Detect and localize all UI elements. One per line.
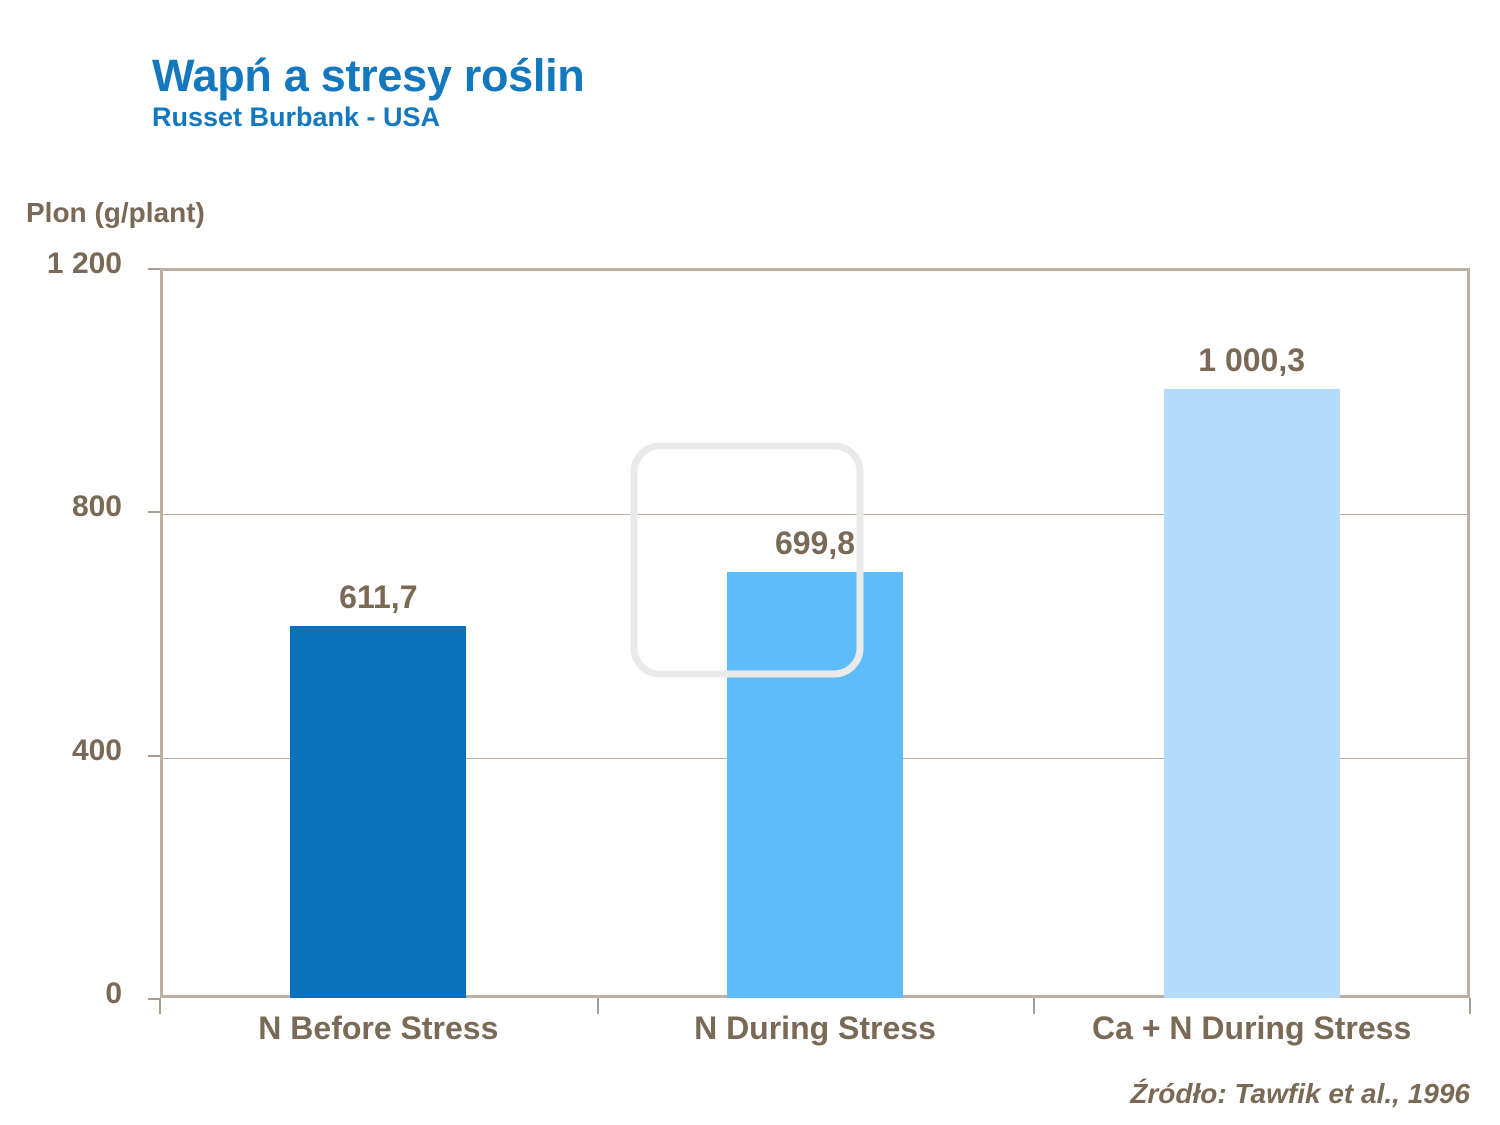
bar-value-label: 1 000,3 — [1102, 342, 1402, 379]
x-axis-edge-tick — [1469, 998, 1471, 1014]
source-note: Źródło: Tawfik et al., 1996 — [1130, 1078, 1470, 1110]
bar[interactable] — [1164, 389, 1340, 998]
x-category-label: N During Stress — [597, 1010, 1034, 1047]
x-category-label: Ca + N During Stress — [1033, 1010, 1470, 1047]
x-category-tick — [597, 998, 599, 1014]
x-axis-edge-tick — [159, 998, 161, 1014]
y-axis-title: Plon (g/plant) — [26, 197, 205, 229]
x-category-label: N Before Stress — [160, 1010, 597, 1047]
y-tick-label: 0 — [0, 977, 144, 1011]
x-category-tick — [1033, 998, 1035, 1014]
page-title: Wapń a stresy roślin — [152, 52, 584, 99]
page-subtitle: Russet Burbank - USA — [152, 103, 584, 131]
y-tick-label: 1 200 — [0, 247, 144, 281]
y-tick-mark — [148, 755, 160, 757]
bar[interactable] — [290, 626, 466, 998]
title-block: Wapń a stresy roślin Russet Burbank - US… — [152, 52, 584, 132]
y-tick-mark — [148, 268, 160, 270]
bar[interactable] — [727, 572, 903, 998]
bar-value-label: 699,8 — [665, 525, 965, 562]
y-tick-mark — [148, 511, 160, 513]
bar-value-label: 611,7 — [228, 579, 528, 616]
y-tick-label: 400 — [0, 734, 144, 768]
y-tick-label: 800 — [0, 490, 144, 524]
